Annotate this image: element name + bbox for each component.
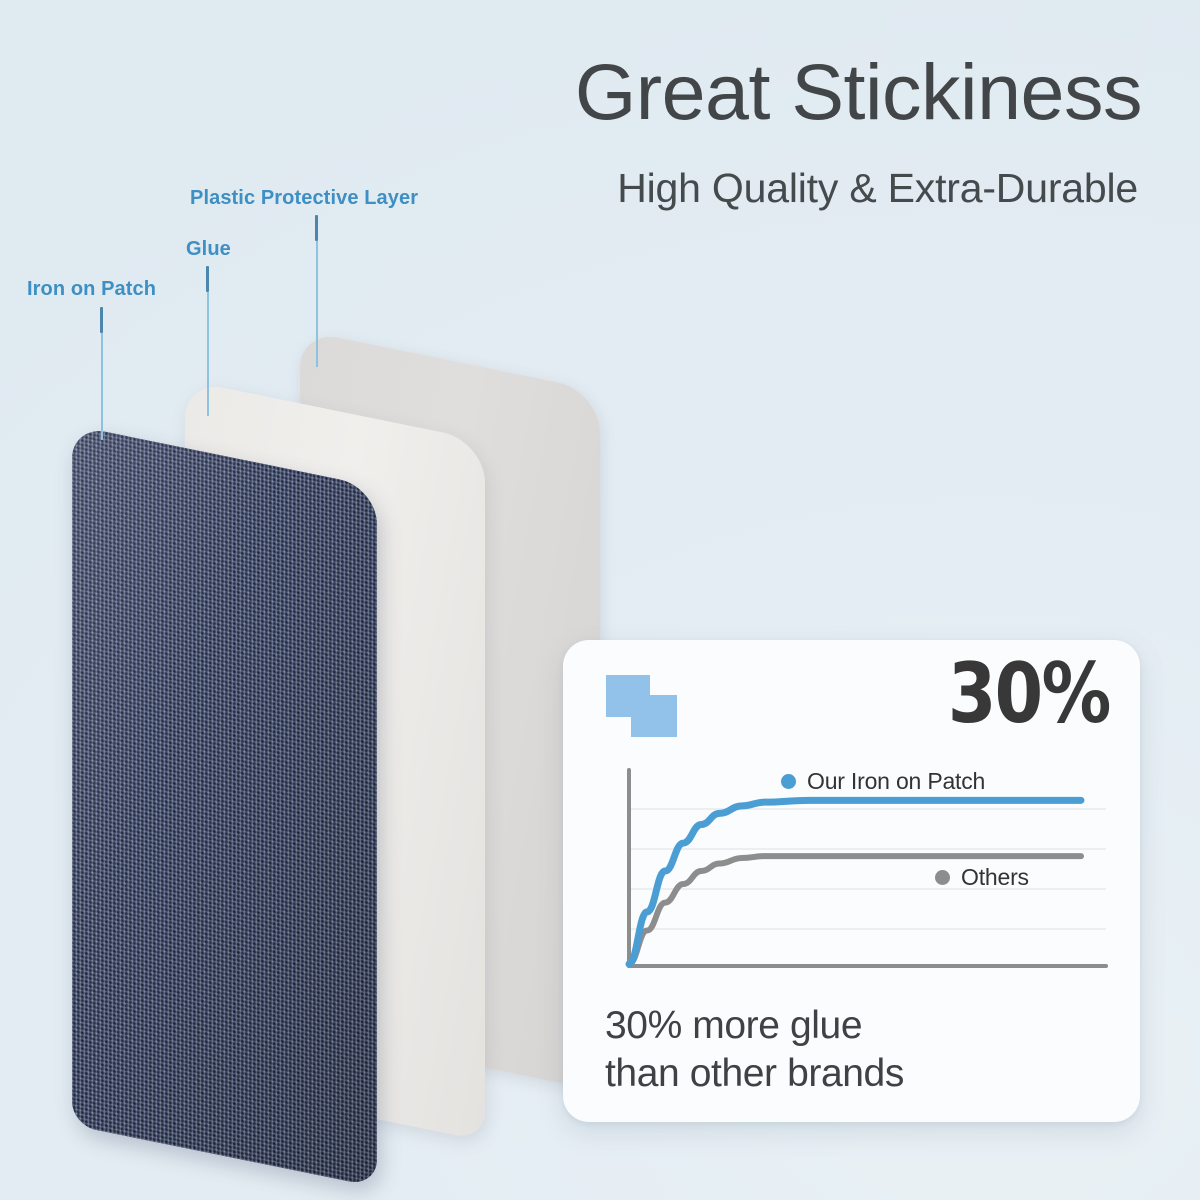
comparison-chart bbox=[603, 768, 1108, 978]
page-subtitle: High Quality & Extra-Durable bbox=[617, 168, 1138, 209]
callout-label-glue: Glue bbox=[186, 238, 231, 261]
infographic-canvas: Great Stickiness High Quality & Extra-Du… bbox=[0, 0, 1200, 1200]
callout-line-head bbox=[206, 266, 209, 292]
callout-line-tail bbox=[316, 241, 318, 367]
legend-item-others: Others bbox=[935, 864, 1029, 891]
layer-iron-on-patch bbox=[72, 425, 377, 1187]
caption-line-1: 30% more glue bbox=[605, 1002, 904, 1050]
stat-card: 30% Our Iron on Patch Others 30% more gl… bbox=[563, 640, 1140, 1122]
callout-line-plastic-protective-layer bbox=[315, 215, 318, 367]
legend-label-our-iron-on-patch: Our Iron on Patch bbox=[807, 768, 985, 795]
two-squares-icon bbox=[606, 675, 682, 737]
callout-label-plastic-protective-layer: Plastic Protective Layer bbox=[190, 187, 418, 210]
callout-line-head bbox=[315, 215, 318, 241]
chart-curves bbox=[603, 768, 1108, 978]
callout-line-head bbox=[100, 307, 103, 333]
percent-value: 30% bbox=[948, 652, 1110, 735]
card-caption: 30% more glue than other brands bbox=[605, 1002, 904, 1097]
legend-label-others: Others bbox=[961, 864, 1029, 891]
caption-line-2: than other brands bbox=[605, 1050, 904, 1098]
callout-line-tail bbox=[101, 333, 103, 440]
callout-label-iron-on-patch: Iron on Patch bbox=[27, 278, 156, 301]
callout-line-tail bbox=[207, 292, 209, 416]
legend-dot-gray bbox=[935, 870, 950, 885]
callout-line-glue bbox=[206, 266, 209, 416]
legend-item-our-iron-on-patch: Our Iron on Patch bbox=[781, 768, 985, 795]
callout-line-iron-on-patch bbox=[100, 307, 103, 440]
page-title: Great Stickiness bbox=[575, 52, 1142, 131]
legend-dot-blue bbox=[781, 774, 796, 789]
square-front bbox=[631, 695, 677, 737]
denim-sheen bbox=[72, 425, 377, 1187]
